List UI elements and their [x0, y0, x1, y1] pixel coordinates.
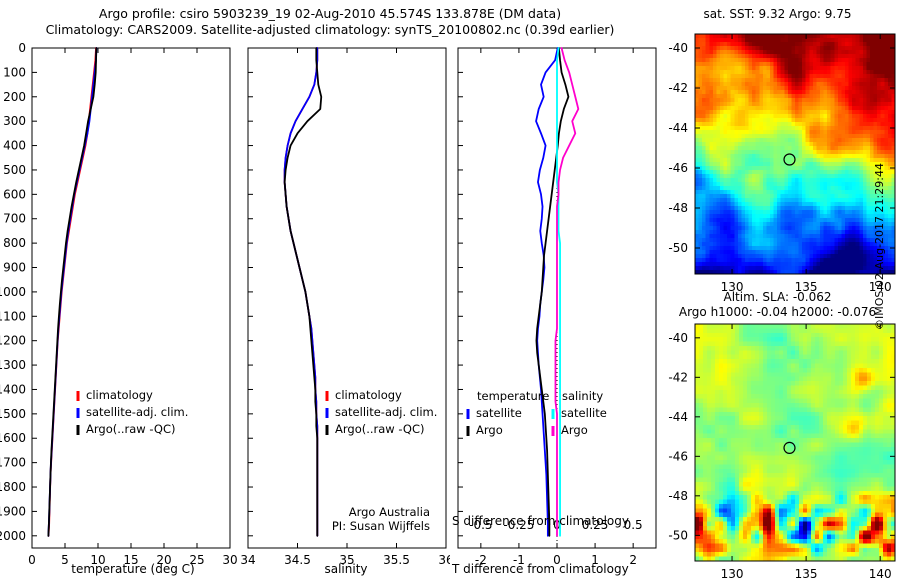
tick-label: 1200	[0, 334, 26, 348]
tick-label: -46	[668, 161, 688, 175]
legend-label: climatology	[86, 388, 153, 402]
title-line-1: Argo profile: csiro 5903239_19 02-Aug-20…	[0, 6, 660, 22]
tick-label: 400	[3, 139, 26, 153]
tick-label: 300	[3, 114, 26, 128]
map-raster	[695, 34, 896, 275]
salinity-profile-chart: 3434.53535.536climatologysatellite-adj. …	[240, 40, 450, 580]
tick-label: 1300	[0, 358, 26, 372]
temperature-profile-panel: 0100200300400500600700800900100011001200…	[0, 40, 240, 580]
legend-item-temperature: satellite	[468, 406, 522, 420]
difference-profile-panel: -2-1012-0.5-0.2500.250.5temperaturesalin…	[450, 40, 660, 580]
tick-label: -46	[668, 449, 688, 463]
tick-label: 1000	[0, 285, 26, 299]
legend-item: Argo(..raw -QC)	[327, 422, 425, 436]
legend-label: satellite-adj. clim.	[86, 405, 188, 419]
legend-label: satellite	[561, 406, 607, 420]
credit-line-1: Argo Australia	[300, 505, 430, 519]
legend-item-salinity: Argo	[553, 423, 588, 437]
profile-curve	[285, 48, 318, 536]
page-title: Argo profile: csiro 5903239_19 02-Aug-20…	[0, 6, 660, 38]
profile-curve	[285, 48, 318, 536]
legend-label: Argo(..raw -QC)	[86, 422, 176, 436]
tick-label: 135	[795, 567, 818, 580]
temperature-difference-axis-label: T difference from climatology	[452, 562, 652, 576]
tick-label: 1900	[0, 504, 26, 518]
tick-label: -40	[668, 41, 688, 55]
tick-label: 500	[3, 163, 26, 177]
legend-item-salinity: satellite	[553, 406, 607, 420]
tick-label: -50	[668, 528, 688, 542]
tick-label: -40	[668, 331, 688, 345]
tick-label: 135	[795, 280, 818, 293]
profile-curve	[555, 48, 578, 536]
salinity-profile-panel: 3434.53535.536climatologysatellite-adj. …	[240, 40, 450, 580]
map-raster	[695, 324, 896, 562]
legend-header-salinity: salinity	[562, 389, 603, 403]
tick-label: 1800	[0, 480, 26, 494]
legend-item: Argo(..raw -QC)	[78, 422, 176, 436]
temperature-profile-chart: 0100200300400500600700800900100011001200…	[0, 40, 240, 580]
temperature-axis-label: temperature (deg C)	[28, 562, 238, 576]
tick-label: -44	[668, 121, 688, 135]
copyright-text: ©IMOS 02-Aug-2017 21:29:44	[873, 110, 886, 330]
tick-label: 1600	[0, 431, 26, 445]
tick-label: -42	[668, 81, 688, 95]
difference-legend: temperaturesalinitysatellitesatelliteArg…	[468, 389, 607, 437]
legend-label: climatology	[335, 388, 402, 402]
legend-item-temperature: Argo	[468, 423, 503, 437]
legend-label: satellite-adj. clim.	[335, 405, 437, 419]
tick-label: 600	[3, 187, 26, 201]
sst-map-title: sat. SST: 9.32 Argo: 9.75	[665, 7, 890, 22]
tick-label: 140	[869, 567, 892, 580]
salinity-difference-axis-label: S difference from climatology	[452, 514, 652, 528]
sst-map-chart: -40-42-44-46-48-50130135140	[655, 28, 900, 293]
credit-line-2: PI: Susan Wijffels	[300, 519, 430, 533]
tick-label: -44	[668, 410, 688, 424]
tick-label: -50	[668, 241, 688, 255]
tick-label: 1100	[0, 309, 26, 323]
sla-map-title: Altim. SLA: -0.062 Argo h1000: -0.04 h20…	[665, 290, 890, 320]
tick-label: 900	[3, 261, 26, 275]
legend-label: Argo	[561, 423, 588, 437]
tick-label: 1400	[0, 382, 26, 396]
tick-label: 1500	[0, 407, 26, 421]
tick-label: 800	[3, 236, 26, 250]
salinity-axis-label: salinity	[246, 562, 446, 576]
tick-label: 700	[3, 212, 26, 226]
legend-label: satellite	[476, 406, 522, 420]
profile-curve	[536, 48, 568, 536]
tick-label: 100	[3, 65, 26, 79]
legend-header-temperature: temperature	[477, 389, 549, 403]
tick-label: -48	[668, 201, 688, 215]
sst-map-panel: -40-42-44-46-48-50130135140	[655, 28, 900, 293]
sla-map-panel: -40-42-44-46-48-50130135140	[655, 318, 900, 580]
legend-label: Argo(..raw -QC)	[335, 422, 425, 436]
tick-label: -48	[668, 489, 688, 503]
tick-label: -42	[668, 370, 688, 384]
title-line-2: Climatology: CARS2009. Satellite-adjuste…	[0, 22, 660, 38]
profile-curve	[285, 48, 322, 536]
tick-label: 200	[3, 90, 26, 104]
legend-item: satellite-adj. clim.	[78, 405, 188, 419]
credit-block: Argo Australia PI: Susan Wijffels	[300, 505, 430, 533]
profile-curve	[48, 48, 96, 536]
tick-label: 130	[721, 280, 744, 293]
tick-label: 1700	[0, 456, 26, 470]
legend-item: climatology	[327, 388, 402, 402]
plot-frame	[248, 48, 446, 548]
legend-item: satellite-adj. clim.	[327, 405, 437, 419]
sla-map-chart: -40-42-44-46-48-50130135140	[655, 318, 900, 580]
legend-label: Argo	[476, 423, 503, 437]
tick-label: 0	[18, 41, 26, 55]
legend-item: climatology	[78, 388, 153, 402]
difference-profile-chart: -2-1012-0.5-0.2500.250.5temperaturesalin…	[450, 40, 660, 580]
tick-label: 2000	[0, 529, 26, 543]
tick-label: 130	[721, 567, 744, 580]
